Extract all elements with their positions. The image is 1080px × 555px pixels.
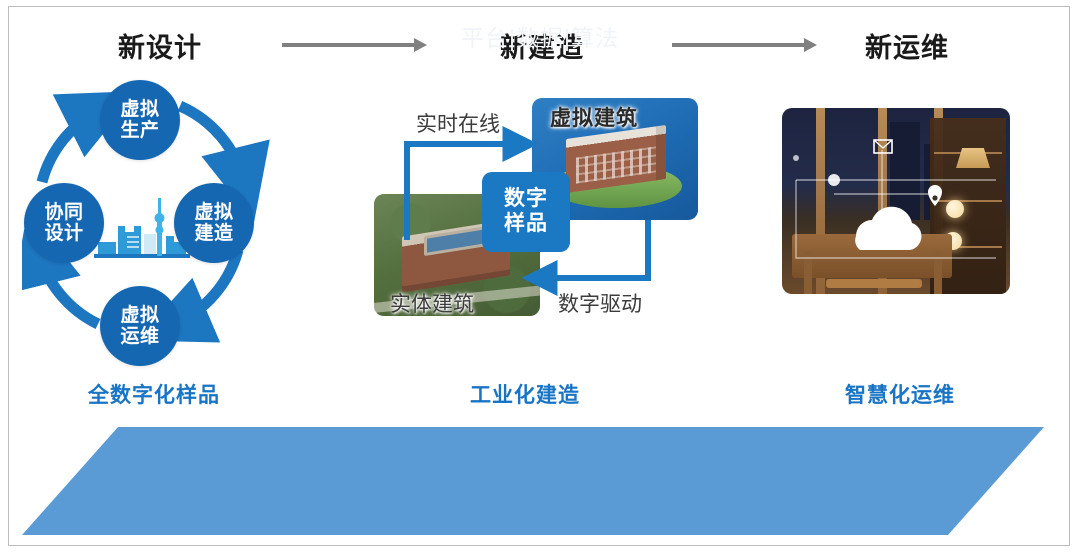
node-line-1: 协同 [44,202,83,223]
cycle-node-virtual-construction[interactable]: 虚拟 建造 [174,183,254,263]
cycle-node-virtual-operation[interactable]: 虚拟 运维 [100,286,180,366]
foundation-banner [22,427,1044,535]
location-pin-icon [928,185,942,206]
physical-building-label: 实体建筑 [390,288,474,318]
cycle-node-collaborative-design[interactable]: 协同 设计 [24,183,104,263]
banner-platform-data-algorithm: 平台|数据|算法 [0,19,1080,53]
node-line-1: 虚拟 [120,99,159,120]
caption-full-digital-sample: 全数字化样品 [88,379,220,409]
iot-overlay-icons [782,108,1010,294]
caption-smart-operation: 智慧化运维 [845,379,955,409]
node-line-2: 运维 [120,326,159,347]
cloud-icon [855,207,921,250]
diagram-canvas: 新设计 新建造 新运维 [0,0,1080,555]
node-line-2: 设计 [44,223,83,244]
virtual-building-label: 虚拟建筑 [550,102,638,132]
caption-industrial-construction: 工业化建造 [470,379,580,409]
arrow-label-digital-driven: 数字驱动 [558,288,642,318]
node-line-1: 虚拟 [194,202,233,223]
smart-operation-photo [782,108,1010,294]
arrow-label-realtime-online: 实时在线 [416,108,500,138]
digital-sample-box[interactable]: 数字 样品 [482,172,570,252]
node-line-1: 虚拟 [120,305,159,326]
design-cycle-group: 虚拟 生产 虚拟 建造 虚拟 运维 协同 设计 [22,78,284,363]
sample-line-2: 样品 [504,212,548,237]
envelope-icon [874,140,892,153]
node-dot-icon [793,155,840,186]
node-line-2: 生产 [120,120,159,141]
digital-twin-group: 数字 样品 实体建筑 虚拟建筑 实时在线 数字驱动 [360,80,720,350]
node-line-2: 建造 [194,223,233,244]
sample-line-1: 数字 [504,187,548,212]
banner-digital-construction: 数字建筑 [0,59,1080,95]
